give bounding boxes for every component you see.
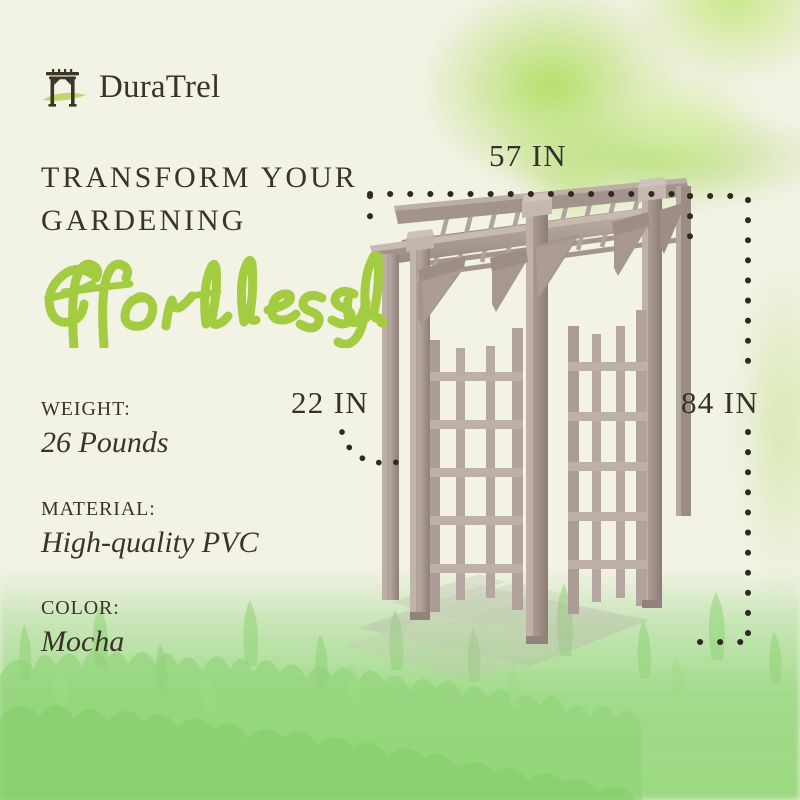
product-infographic: 57 IN 22 IN 84 IN DuraTrel Trans — [0, 0, 800, 800]
spec-item-weight: WEIGHT: 26 Pounds — [41, 398, 371, 460]
spec-label-weight: WEIGHT: — [41, 398, 371, 420]
spec-value-color: Mocha — [41, 625, 371, 659]
arbor-logo-icon — [40, 62, 90, 112]
headline-script-word — [30, 252, 390, 348]
page-title: Transform Your Gardening — [41, 157, 371, 242]
spec-item-color: COLOR: Mocha — [41, 597, 371, 659]
headline-line-2: Gardening — [41, 200, 371, 243]
spec-list: WEIGHT: 26 Pounds MATERIAL: High-quality… — [41, 398, 371, 659]
spec-value-weight: 26 Pounds — [41, 426, 371, 460]
spec-label-material: MATERIAL: — [41, 498, 371, 520]
spec-value-material: High-quality PVC — [41, 526, 371, 560]
spec-item-material: MATERIAL: High-quality PVC — [41, 498, 371, 560]
dimension-width-label: 57 IN — [489, 138, 567, 174]
headline-line-1: Transform Your — [41, 157, 371, 200]
brand-name: DuraTrel — [99, 71, 220, 104]
dimension-height-label: 84 IN — [681, 385, 759, 421]
brand-logo: DuraTrel — [40, 62, 220, 112]
effortlessly-script-icon — [30, 252, 390, 348]
spec-label-color: COLOR: — [41, 597, 371, 619]
